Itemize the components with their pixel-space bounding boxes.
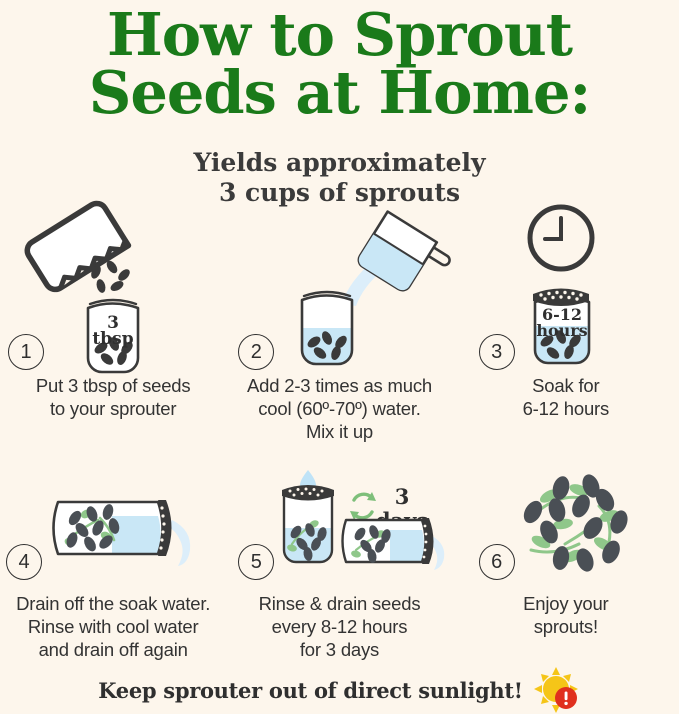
jar-horizontal-icon xyxy=(343,518,434,564)
subtitle-line-1: Yields approximately xyxy=(193,148,485,177)
step-6: 6 Enjoy your sprouts! xyxy=(453,466,679,661)
step-1-caption: Put 3 tbsp of seeds to your sprouter xyxy=(36,374,191,420)
step-number-6: 6 xyxy=(479,544,515,580)
step-2: 2 Add 2-3 times as much cool (60º-70º) w… xyxy=(226,196,452,443)
step-5-illustration: 3 days xyxy=(226,466,452,590)
jar-label-line-2: hours xyxy=(536,321,587,340)
footer-warning: Keep sprouter out of direct sunlight! xyxy=(0,666,679,714)
badge-line-1: 3 xyxy=(395,484,410,509)
step-1-illustration: 3 tbsp 1 xyxy=(0,196,226,372)
step-number-1: 1 xyxy=(8,334,44,370)
jar-upright-icon xyxy=(282,485,334,562)
step-4-illustration: 4 xyxy=(0,466,226,590)
jar-icon xyxy=(302,292,352,364)
warning-exclamation-bar xyxy=(564,692,567,701)
jar-label-line-2: tbsp xyxy=(92,329,133,349)
seed-packet-icon xyxy=(24,200,129,293)
infographic-poster: How to Sprout Seeds at Home: Yields appr… xyxy=(0,0,679,713)
sun-warning-icon xyxy=(533,666,581,714)
cycle-arrow-heads xyxy=(350,492,376,520)
mesh-lid-icon xyxy=(533,289,589,307)
step-6-caption: Enjoy your sprouts! xyxy=(523,592,608,638)
sprout-cluster-icon xyxy=(520,472,631,574)
page-title: How to Sprout Seeds at Home: xyxy=(0,6,679,122)
step-2-illustration: 2 xyxy=(226,196,452,372)
warning-exclamation-dot xyxy=(564,702,567,705)
clock-icon xyxy=(530,207,592,269)
step-2-caption: Add 2-3 times as much cool (60º-70º) wat… xyxy=(247,374,432,443)
step-4: 4 Drain off the soak water. Rinse with c… xyxy=(0,466,226,661)
step-3: 6-12 hours 3 Soak for 6-12 hours xyxy=(453,196,679,443)
step-3-illustration: 6-12 hours 3 xyxy=(453,196,679,372)
step-number-4: 4 xyxy=(6,544,42,580)
title-line-2: Seeds at Home: xyxy=(0,64,679,122)
steps-row-bottom: 4 Drain off the soak water. Rinse with c… xyxy=(0,466,679,661)
step-number-3: 3 xyxy=(479,334,515,370)
step-6-illustration: 6 xyxy=(453,466,679,590)
steps-row-top: 3 tbsp 1 Put 3 tbsp of seeds to your spr… xyxy=(0,196,679,443)
step-5-caption: Rinse & drain seeds every 8-12 hours for… xyxy=(259,592,421,661)
step-5: 3 days xyxy=(226,466,452,661)
step-4-caption: Drain off the soak water. Rinse with coo… xyxy=(16,592,210,661)
step-1: 3 tbsp 1 Put 3 tbsp of seeds to your spr… xyxy=(0,196,226,443)
measuring-cup-icon xyxy=(356,212,455,305)
step-3-caption: Soak for 6-12 hours xyxy=(523,374,609,420)
footer-text: Keep sprouter out of direct sunlight! xyxy=(98,678,522,703)
jar-water xyxy=(112,516,161,554)
